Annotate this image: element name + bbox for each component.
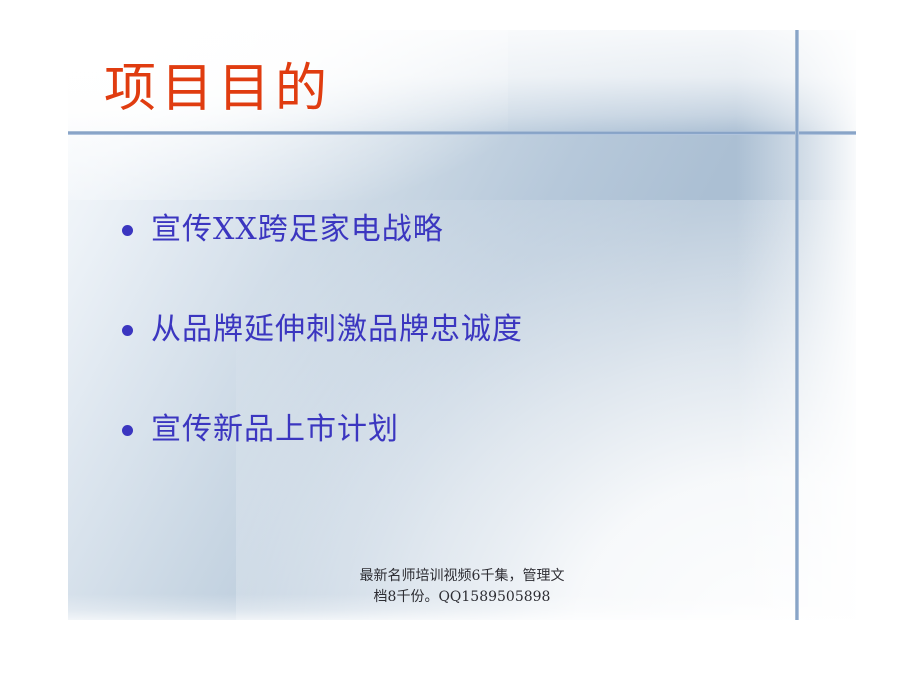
list-item: 宣传XX跨足家电战略 [122, 208, 772, 252]
title-divider-rule [68, 131, 856, 135]
list-item-label: 宣传新品上市计划 [151, 408, 399, 452]
bullet-dot-icon [122, 225, 133, 236]
footer-line-1: 最新名师培训视频6千集，管理文 [68, 566, 856, 587]
list-item-label: 从品牌延伸刺激品牌忠诚度 [151, 308, 523, 352]
slide-title: 项目目的 [104, 58, 332, 120]
footer-watermark: 最新名师培训视频6千集，管理文 档8千份。QQ1589505898 [68, 566, 856, 608]
presentation-slide: 项目目的 宣传XX跨足家电战略 从品牌延伸刺激品牌忠诚度 宣传新品上市计划 最新… [0, 0, 920, 690]
list-item-label: 宣传XX跨足家电战略 [151, 208, 444, 252]
list-item: 从品牌延伸刺激品牌忠诚度 [122, 308, 772, 352]
footer-line-2: 档8千份。QQ1589505898 [68, 587, 856, 608]
list-item: 宣传新品上市计划 [122, 408, 772, 452]
bullet-list: 宣传XX跨足家电战略 从品牌延伸刺激品牌忠诚度 宣传新品上市计划 [122, 208, 772, 452]
bullet-dot-icon [122, 325, 133, 336]
bullet-dot-icon [122, 425, 133, 436]
right-vertical-rule [795, 30, 799, 620]
